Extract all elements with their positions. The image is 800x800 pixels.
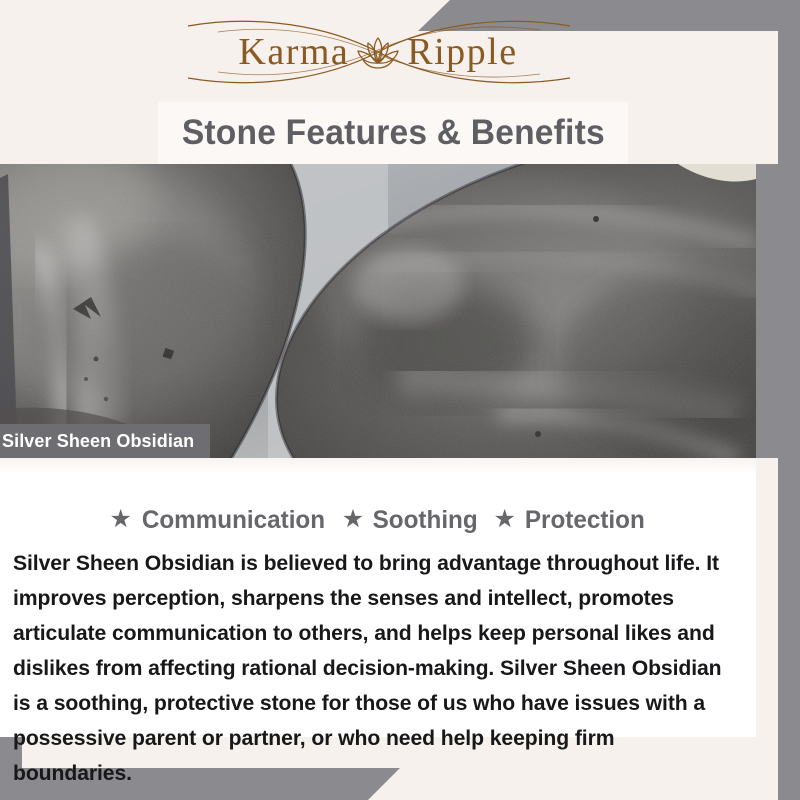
content-top-fade xyxy=(0,458,756,474)
page-title: Stone Features & Benefits xyxy=(181,113,604,153)
keyword-label: Communication xyxy=(142,506,325,535)
stone-photo-image xyxy=(0,164,778,458)
lotus-icon xyxy=(355,32,401,72)
star-icon: ★ xyxy=(494,507,516,532)
frame-right-bar xyxy=(778,0,800,800)
keyword-label: Protection xyxy=(525,506,645,535)
star-icon: ★ xyxy=(109,507,131,532)
keyword-item-protection: ★ Protection xyxy=(494,506,647,535)
content-panel: ★ Communication ★ Soothing ★ Protection … xyxy=(0,458,756,737)
stone-name-text: Silver Sheen Obsidian xyxy=(2,431,194,452)
keyword-item-communication: ★ Communication xyxy=(109,506,327,535)
stone-name-label: Silver Sheen Obsidian xyxy=(0,424,210,458)
stone-info-card: Karma Ripple Stone Features & Benefits xyxy=(0,0,800,800)
description-paragraph: Silver Sheen Obsidian is believed to bri… xyxy=(13,546,738,791)
keyword-item-soothing: ★ Soothing xyxy=(342,506,480,535)
stone-photo: Silver Sheen Obsidian xyxy=(0,164,778,458)
keyword-label: Soothing xyxy=(373,506,478,535)
title-banner: Stone Features & Benefits xyxy=(158,102,628,164)
brand-word-left: Karma xyxy=(238,33,349,71)
star-icon: ★ xyxy=(342,507,364,532)
brand-word-right: Ripple xyxy=(407,33,517,71)
keyword-list: ★ Communication ★ Soothing ★ Protection xyxy=(0,506,756,535)
brand-logo: Karma Ripple xyxy=(0,0,756,104)
